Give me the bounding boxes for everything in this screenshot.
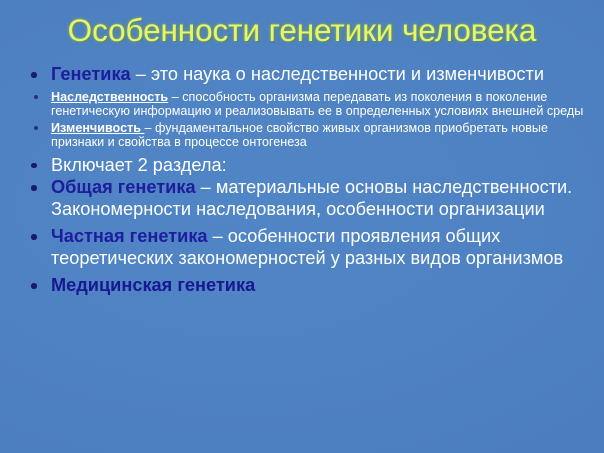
bullet-dot-icon bbox=[34, 126, 38, 130]
bullet-genetika: Генетика – это наука о наследственности … bbox=[18, 64, 594, 86]
bullet-term-izmenchivost: Изменчивость bbox=[51, 121, 145, 135]
bullet-separator-izmenchivost: – bbox=[145, 121, 156, 135]
bullet-dot-icon bbox=[31, 234, 37, 240]
sub-bullet-group: Наследственность – способность организма… bbox=[18, 90, 594, 150]
bullet-text-genetika: это наука о наследственности и изменчиво… bbox=[151, 64, 544, 84]
bullet-dot-icon bbox=[31, 283, 37, 289]
bullet-separator-nasledstvennost: – bbox=[168, 90, 182, 104]
bullet-separator-genetika: – bbox=[131, 64, 151, 84]
bullet-term-nasledstvennost: Наследственность bbox=[51, 90, 168, 104]
bullet-vkluchaet: Включает 2 раздела: bbox=[18, 155, 594, 177]
bullet-meditsinskaya-genetika: Медицинская генетика bbox=[18, 275, 594, 297]
bullet-dot-icon bbox=[34, 95, 38, 99]
bullet-term-obshaya-genetika: Общая генетика bbox=[51, 177, 196, 197]
bullet-nasledstvennost: Наследственность – способность организма… bbox=[18, 90, 594, 119]
bullet-izmenchivost: Изменчивость – фундаментальное свойство … bbox=[18, 121, 594, 150]
bullet-term-chastnaya-genetika: Частная генетика bbox=[51, 226, 208, 246]
bullet-obshaya-genetika: Общая генетика – материальные основы нас… bbox=[18, 177, 594, 220]
bullet-chastnaya-genetika: Частная генетика – особенности проявлени… bbox=[18, 226, 594, 269]
bullet-dot-icon bbox=[31, 163, 37, 169]
bullet-separator-obshaya-genetika: – bbox=[196, 177, 216, 197]
presentation-slide: Особенности генетики человека Генетика –… bbox=[0, 0, 604, 453]
bullet-term-meditsinskaya-genetika: Медицинская генетика bbox=[51, 275, 255, 295]
slide-body: Генетика – это наука о наследственности … bbox=[18, 64, 594, 298]
bullet-separator-chastnaya-genetika: – bbox=[208, 226, 228, 246]
bullet-text-vkluchaet: Включает 2 раздела: bbox=[51, 155, 227, 175]
bullet-dot-icon bbox=[31, 72, 37, 78]
slide-title: Особенности генетики человека bbox=[0, 12, 604, 48]
bullet-term-genetika: Генетика bbox=[51, 64, 131, 84]
bullet-dot-icon bbox=[31, 185, 37, 191]
